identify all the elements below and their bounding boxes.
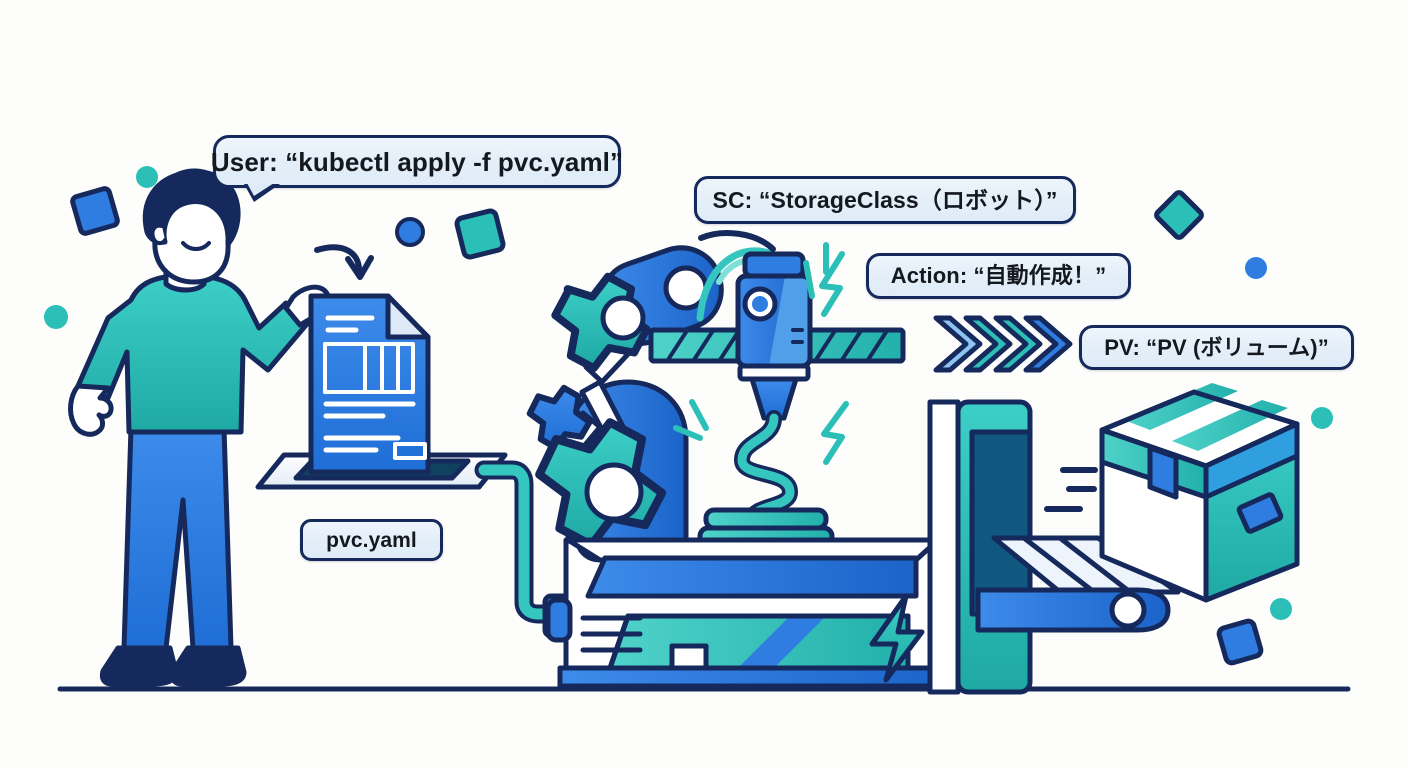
- yaml-document: [311, 296, 428, 472]
- label-storage-class: SC: “StorageClass（ロボット）”: [694, 176, 1076, 224]
- person-legs: [124, 428, 231, 648]
- person-shoe-right: [172, 648, 244, 684]
- decor-circle-blue-right: [1245, 257, 1267, 279]
- label-action: Action: “自動作成！”: [866, 253, 1131, 299]
- print-head-cap: [745, 254, 803, 276]
- print-head: [738, 254, 810, 519]
- action-text: Action: “自動作成！”: [891, 265, 1106, 287]
- factory-illustration: [0, 0, 1408, 768]
- decor-circle-blue-ring: [397, 219, 423, 245]
- label-persistent-volume: PV: “PV (ボリューム)”: [1079, 325, 1354, 370]
- decor-circle-teal-left: [44, 305, 68, 329]
- label-file-name: pvc.yaml: [300, 519, 443, 561]
- spark-bolt-lower: [824, 404, 846, 462]
- persistent-volume-text: PV: “PV (ボリューム)”: [1104, 337, 1329, 359]
- document-folded-corner: [388, 296, 428, 337]
- file-name-text: pvc.yaml: [326, 530, 417, 551]
- decor-square-teal-mid: [456, 210, 504, 258]
- decor-circle-teal-small-topleft: [136, 166, 158, 188]
- chevron-arrows: [936, 318, 1070, 370]
- tower-screen: [972, 432, 1030, 614]
- person-hand-left: [71, 386, 112, 434]
- speech-bubble-user-command: User: “kubectl apply -f pvc.yaml”: [213, 135, 621, 188]
- factory-machine: [548, 540, 950, 686]
- output-box: [1102, 383, 1297, 600]
- gear-bottom-teal: [539, 422, 662, 545]
- storage-class-text: SC: “StorageClass（ロボット）”: [713, 189, 1058, 212]
- person-shoe-left: [102, 648, 176, 684]
- motion-speed-lines: [1047, 470, 1095, 509]
- decor-square-blue-lowright: [1218, 620, 1263, 665]
- belt-roller: [1112, 594, 1144, 626]
- box-flap: [1150, 448, 1176, 497]
- curved-arrow-to-document: [317, 247, 371, 277]
- machine-side-port: [548, 600, 570, 640]
- feed-pipe: [484, 470, 566, 614]
- user-command-text: User: “kubectl apply -f pvc.yaml”: [211, 149, 623, 175]
- user-person: [71, 171, 329, 684]
- decor-circle-teal-lowright: [1270, 598, 1292, 620]
- tower-frame: [930, 402, 958, 692]
- decor-circle-teal-right: [1311, 407, 1333, 429]
- decor-square-blue-topleft: [71, 187, 118, 234]
- machine-blue-band: [588, 558, 916, 596]
- illustration-canvas: User: “kubectl apply -f pvc.yaml” SC: “S…: [0, 0, 1408, 768]
- decor-diamond-teal-right: [1155, 191, 1203, 239]
- gear-top-hub: [603, 298, 643, 338]
